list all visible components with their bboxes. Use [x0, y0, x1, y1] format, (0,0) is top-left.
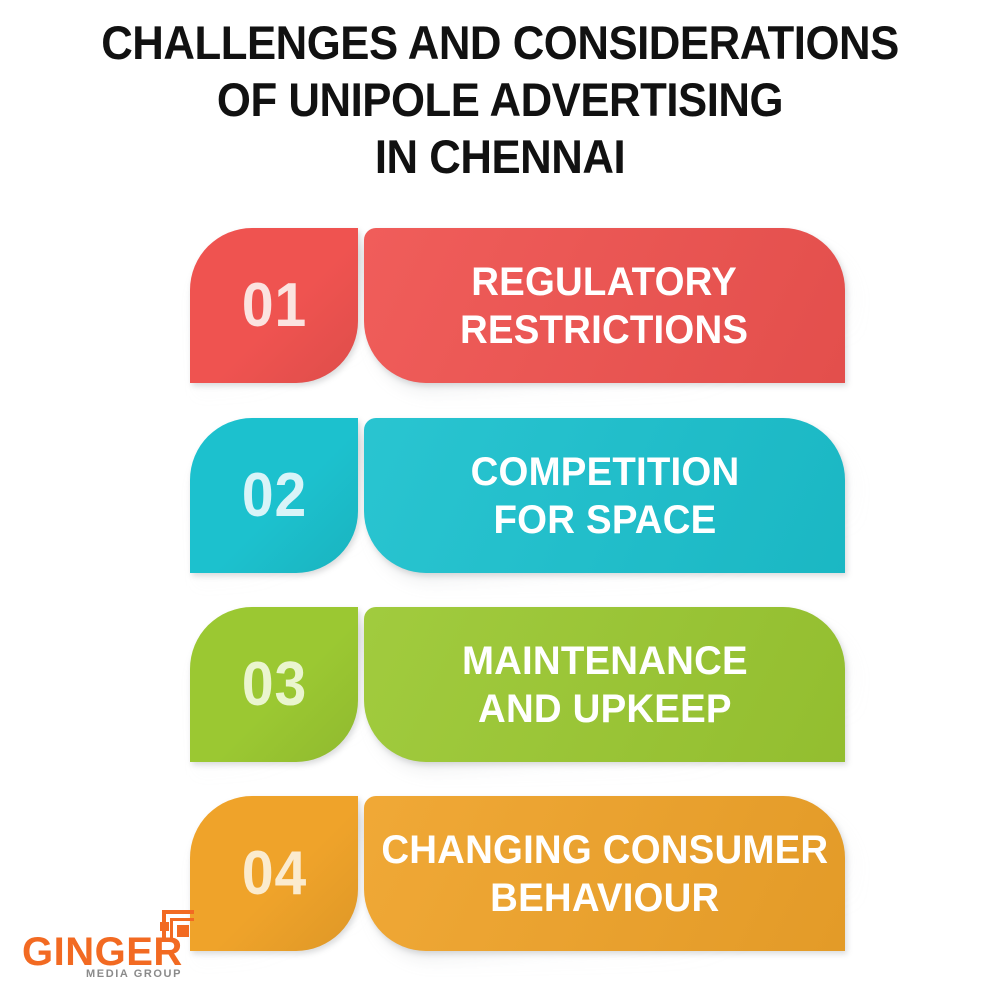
brand-logo[interactable]: GINGER MEDIA GROUP: [22, 906, 212, 978]
item-number-badge[interactable]: 03: [190, 607, 358, 762]
list-item[interactable]: 01 REGULATORY RESTRICTIONS: [0, 222, 1000, 380]
item-panel[interactable]: REGULATORY RESTRICTIONS: [364, 228, 845, 383]
item-label: CHANGING CONSUMER BEHAVIOUR: [381, 826, 828, 922]
item-panel[interactable]: COMPETITION FOR SPACE: [364, 418, 845, 573]
item-label: REGULATORY RESTRICTIONS: [460, 258, 748, 354]
item-number: 01: [241, 275, 306, 337]
item-number: 02: [241, 465, 306, 527]
list-item[interactable]: 03 MAINTENANCE AND UPKEEP: [0, 601, 1000, 759]
challenge-list: 01 REGULATORY RESTRICTIONS 02 COMPETITIO…: [0, 222, 1000, 967]
title-line-1: CHALLENGES AND CONSIDERATIONS: [35, 14, 965, 71]
item-number: 04: [241, 843, 306, 905]
item-panel[interactable]: MAINTENANCE AND UPKEEP: [364, 607, 845, 762]
title-line-3: IN CHENNAI: [35, 128, 965, 185]
item-label: MAINTENANCE AND UPKEEP: [462, 637, 748, 733]
item-number-badge[interactable]: 02: [190, 418, 358, 573]
page-title: CHALLENGES AND CONSIDERATIONS OF UNIPOLE…: [0, 14, 1000, 185]
item-number-badge[interactable]: 04: [190, 796, 358, 951]
title-line-2: OF UNIPOLE ADVERTISING: [35, 71, 965, 128]
logo-wordmark: GINGER: [22, 932, 183, 972]
item-number-badge[interactable]: 01: [190, 228, 358, 383]
list-item[interactable]: 02 COMPETITION FOR SPACE: [0, 412, 1000, 570]
item-number: 03: [241, 654, 306, 716]
logo-tagline: MEDIA GROUP: [86, 968, 182, 980]
item-panel[interactable]: CHANGING CONSUMER BEHAVIOUR: [364, 796, 845, 951]
item-label: COMPETITION FOR SPACE: [470, 448, 739, 544]
